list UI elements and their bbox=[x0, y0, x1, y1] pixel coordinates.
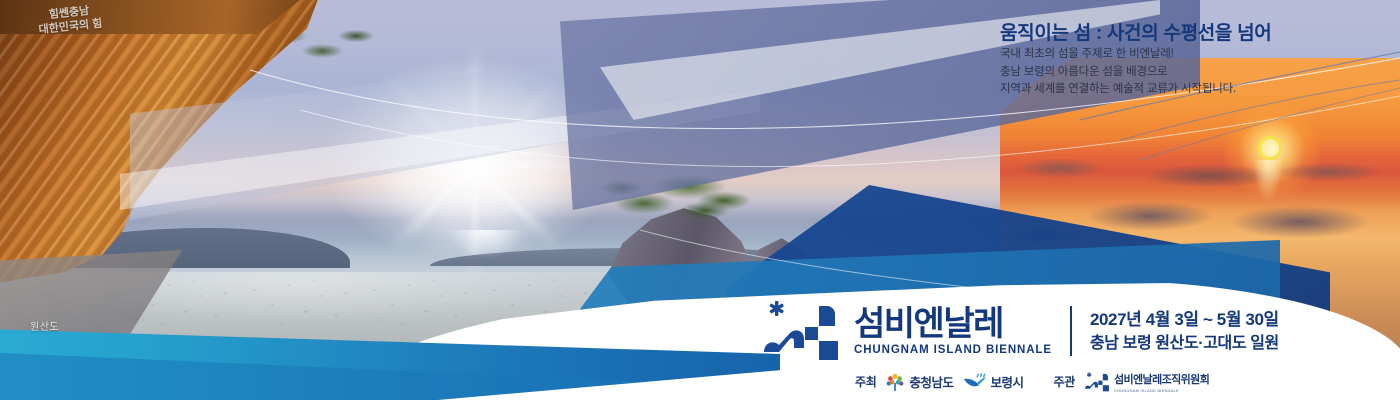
chungcheongnam-do-emblem-icon bbox=[885, 372, 905, 392]
sponsor-boryeong-city: 보령시 bbox=[963, 372, 1024, 391]
organizer-name-block: 섬비엔날레조직위원회 CHUNGNAM ISLAND BIENNALE bbox=[1114, 370, 1209, 393]
subcopy-line-1: 국내 최초의 섬을 주제로 한 비엔날레! bbox=[1000, 46, 1236, 64]
wordmark-korean: 섬비엔날레 bbox=[854, 306, 1052, 342]
banner-headline: 움직이는 섬 : 사건의 수평선을 넘어 bbox=[1000, 18, 1271, 45]
sponsor-chungcheongnam-do: 충청남도 bbox=[885, 372, 953, 392]
sponsor-subtitle-english: CHUNGNAM ISLAND BIENNALE bbox=[1114, 388, 1209, 393]
wordmark-english: CHUNGNAM ISLAND BIENNALE bbox=[854, 343, 1052, 357]
island-biennale-logo-mark bbox=[762, 300, 840, 362]
sponsor-row: 주최 충청남도 bbox=[855, 370, 1209, 393]
event-venue: 충남 보령 원산도·고대도 일원 bbox=[1090, 333, 1279, 354]
event-details: 2027년 4월 3일 ~ 5월 30일 충남 보령 원산도·고대도 일원 bbox=[1090, 309, 1279, 354]
lockup-divider bbox=[1070, 306, 1072, 356]
event-promo-banner: 힘쎈충남 대한민국의 힘 원산도 움직이는 섬 : 사건의 수평선을 넘어 국내… bbox=[0, 0, 1400, 400]
island-biennale-mark-icon bbox=[1084, 372, 1110, 392]
photo-caption-wonsando: 원산도 bbox=[30, 318, 59, 333]
event-dates: 2027년 4월 3일 ~ 5월 30일 bbox=[1090, 309, 1279, 330]
sponsor-name-boryeong-city: 보령시 bbox=[991, 372, 1024, 391]
host-label: 주최 bbox=[855, 373, 876, 390]
organizer-label: 주관 bbox=[1054, 373, 1075, 390]
subcopy-line-2: 충남 보령의 아름다운 섬을 배경으로 bbox=[1000, 64, 1236, 82]
boryeong-city-emblem-icon bbox=[963, 373, 987, 391]
sponsor-name-chungcheongnam-do: 충청남도 bbox=[909, 372, 953, 391]
logo-wordmark: 섬비엔날레 CHUNGNAM ISLAND BIENNALE bbox=[854, 306, 1052, 357]
sponsor-island-biennale-committee: 섬비엔날레조직위원회 CHUNGNAM ISLAND BIENNALE bbox=[1084, 370, 1209, 393]
banner-subcopy: 국내 최초의 섬을 주제로 한 비엔날레! 충남 보령의 아름다운 섬을 배경으… bbox=[1000, 46, 1236, 99]
sponsor-name-island-biennale: 섬비엔날레 bbox=[1114, 374, 1162, 386]
event-logo-lockup: 섬비엔날레 CHUNGNAM ISLAND BIENNALE 2027년 4월 … bbox=[762, 300, 1279, 362]
subcopy-line-3: 지역과 세계를 연결하는 예술적 교류가 시작됩니다. bbox=[1000, 81, 1236, 99]
sponsor-name-committee-suffix: 조직위원회 bbox=[1162, 374, 1210, 386]
